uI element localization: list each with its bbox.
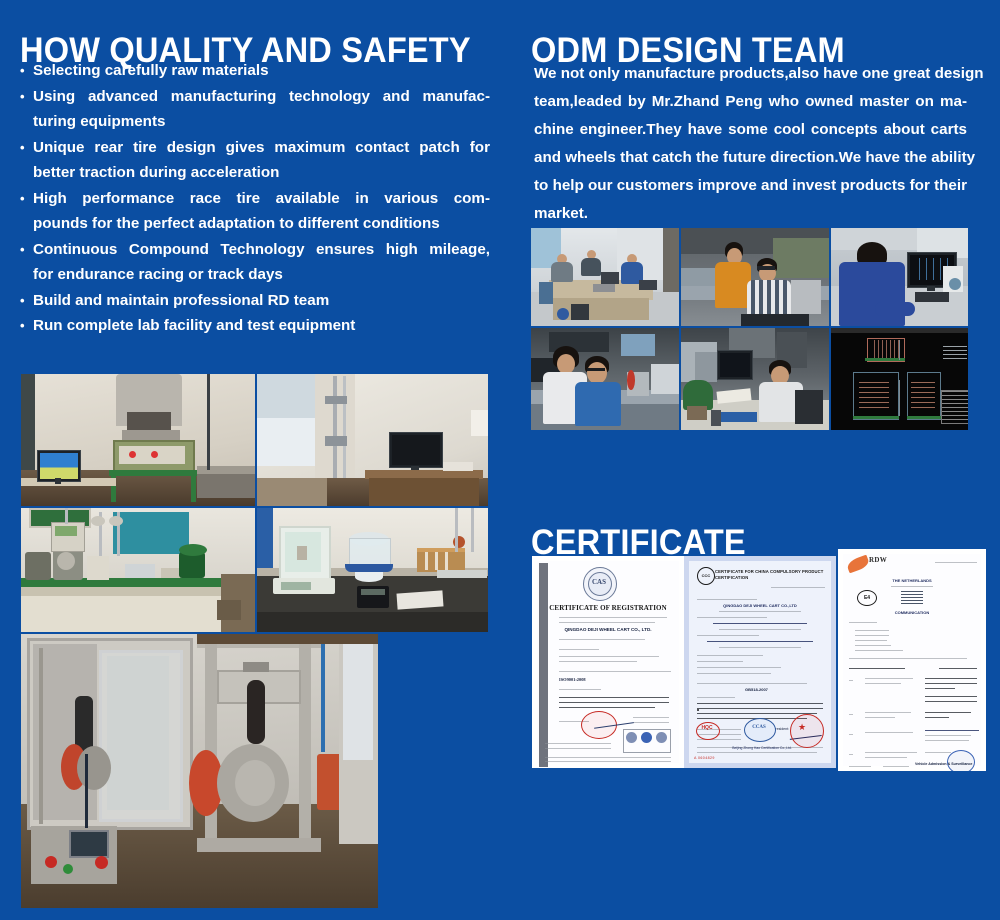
bullet-line: turing equipments [33, 109, 490, 135]
engineer-with-documents [681, 328, 829, 430]
list-item: Continuous Compound Technology ensures h… [20, 237, 490, 288]
paragraph-line: market. [534, 200, 967, 228]
list-item: Run complete lab facility and test equip… [20, 313, 490, 339]
lab-abrasion-bench [21, 508, 255, 632]
certificate-footer: Beijing Zhong Hao Certification Co.,Ltd. [714, 746, 810, 750]
paragraph-line: chine engineer.They have some cool conce… [534, 116, 967, 144]
cad-drawing-screenshot [831, 328, 968, 430]
iso9001-certificate-of-registration: CAS CERTIFICATE OF REGISTRATION QINGDAO … [532, 556, 684, 768]
bullet-line: better traction during acceleration [33, 160, 490, 186]
certificate-company: QINGDAO DEJI WHEEL CART CO., LTD. [537, 627, 679, 632]
paragraph-line: We not only manufacture products,also ha… [534, 60, 967, 88]
bullet-line: Build and maintain professional RD team [33, 288, 490, 314]
wheel-endurance-test-machines [21, 634, 378, 908]
lab-balance-bench [257, 508, 488, 632]
bullet-line: Selecting carefully raw materials [33, 58, 490, 84]
certificate-heading: COMMUNICATION [843, 610, 981, 615]
lab-tensile-test-machine [257, 374, 488, 506]
list-item: Using advanced manufacturing technology … [20, 84, 490, 135]
certificate-heading: CERTIFICATE FOR CHINA COMPULSORY PRODUCT… [715, 569, 827, 581]
list-item: Selecting carefully raw materials [20, 58, 490, 84]
colleagues-discussing-design [531, 328, 679, 430]
lab-rheometer-test-station [21, 374, 255, 506]
certificate-company: QINGDAO DEJI WHEEL CART CO.,LTD [689, 603, 831, 608]
certificate-heading: CERTIFICATE OF REGISTRATION [537, 605, 679, 611]
engineers-reviewing-screen [681, 228, 829, 326]
certificate-standard: GB518-2007 [745, 687, 768, 692]
list-item: Build and maintain professional RD team [20, 288, 490, 314]
bullet-line: Unique rear tire design gives maximum co… [33, 135, 490, 161]
poster-page: HOW QUALITY AND SAFETY Selecting careful… [0, 0, 1000, 920]
certificate-country: THE NETHERLANDS [843, 578, 981, 583]
ccc-china-compulsory-product-certificate: CCC CERTIFICATE FOR CHINA COMPULSORY PRO… [684, 556, 836, 768]
design-office-open-plan [531, 228, 679, 326]
paragraph-line: and wheels that catch the future directi… [534, 144, 967, 172]
certificate-mark: E4 [857, 590, 877, 606]
bullet-line: pounds for the perfect adaptation to dif… [33, 211, 490, 237]
engineer-at-cad-workstation [831, 228, 968, 326]
rdw-e4-communication-certificate: RDW THE NETHERLANDS E4 COMMUNICATION [838, 549, 986, 771]
bullet-line: Using advanced manufacturing technology … [33, 84, 490, 110]
certificate-issuer: RDW [869, 556, 887, 564]
bullet-line: High performance race tire available in … [33, 186, 490, 212]
list-item: High performance race tire available in … [20, 186, 490, 237]
paragraph-line: to help our customers improve and invest… [534, 172, 967, 200]
odm-paragraph: We not only manufacture products,also ha… [534, 60, 967, 228]
list-item: Unique rear tire design gives maximum co… [20, 135, 490, 186]
quality-bullet-list: Selecting carefully raw materials Using … [20, 58, 490, 339]
paragraph-line: team,leaded by Mr.Zhand Peng who owned m… [534, 88, 967, 116]
bullet-line: for endurance racing or track days [33, 262, 490, 288]
bullet-line: Run complete lab facility and test equip… [33, 313, 490, 339]
certificate-standard: ISO9001:2008 [559, 677, 586, 682]
bullet-line: Continuous Compound Technology ensures h… [33, 237, 490, 263]
